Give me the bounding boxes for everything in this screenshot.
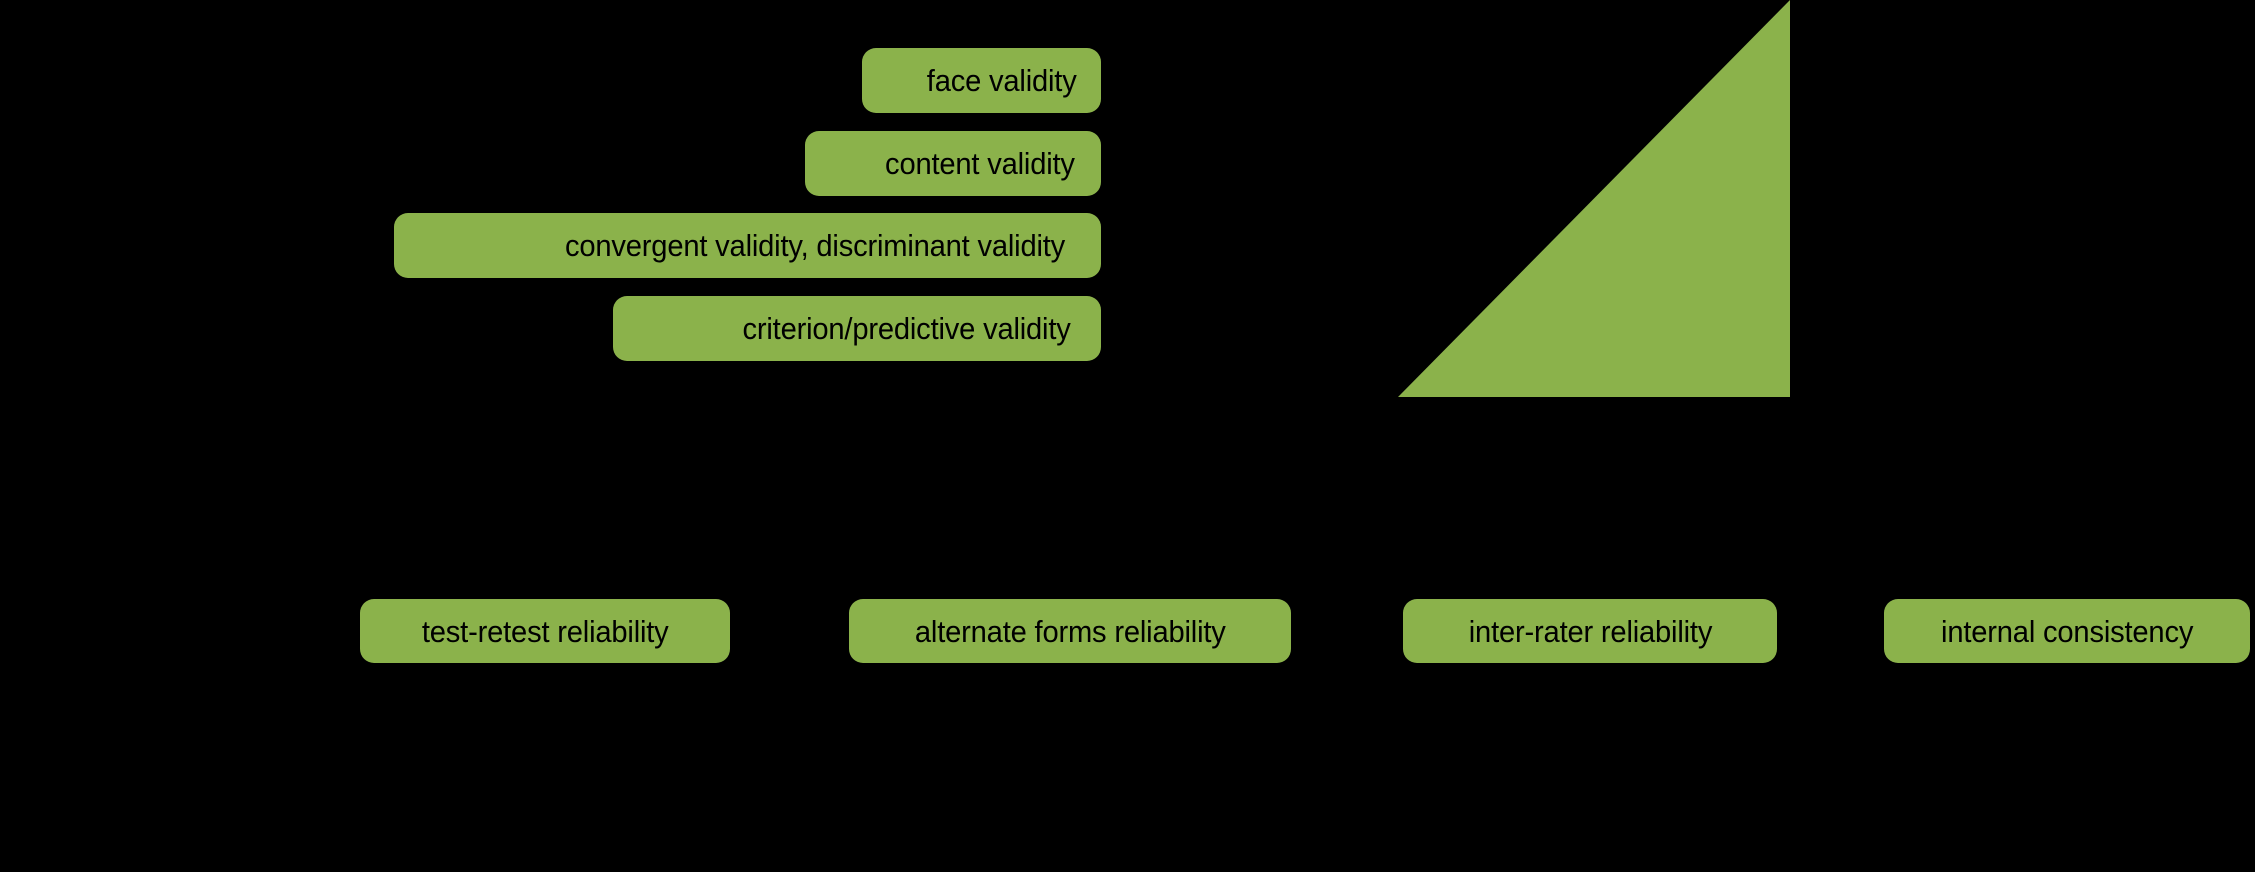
reliability-label-inter-rater-reliability[interactable]: inter-rater reliability [1403, 599, 1777, 663]
reliability-label-internal-consistency[interactable]: internal consistency [1884, 599, 2250, 663]
ascending-triangle-shape [1390, 0, 1800, 400]
pill-text: internal consistency [1941, 616, 2193, 647]
pill-text: content validity [885, 148, 1075, 179]
validity-label-convergent-discriminant-validity[interactable]: convergent validity, discriminant validi… [394, 213, 1101, 278]
validity-label-content-validity[interactable]: content validity [805, 131, 1101, 196]
pill-text: test-retest reliability [422, 616, 669, 647]
validity-label-face-validity[interactable]: face validity [862, 48, 1101, 113]
reliability-label-alternate-forms-reliability[interactable]: alternate forms reliability [849, 599, 1291, 663]
pill-text: criterion/predictive validity [742, 313, 1070, 344]
pill-text: convergent validity, discriminant validi… [565, 230, 1065, 261]
pill-text: face validity [926, 65, 1076, 96]
pill-text: inter-rater reliability [1468, 616, 1711, 647]
validity-label-criterion-predictive-validity[interactable]: criterion/predictive validity [613, 296, 1101, 361]
pill-text: alternate forms reliability [915, 616, 1226, 647]
diagram-canvas: face validity content validity convergen… [0, 0, 2255, 872]
reliability-label-test-retest-reliability[interactable]: test-retest reliability [360, 599, 730, 663]
